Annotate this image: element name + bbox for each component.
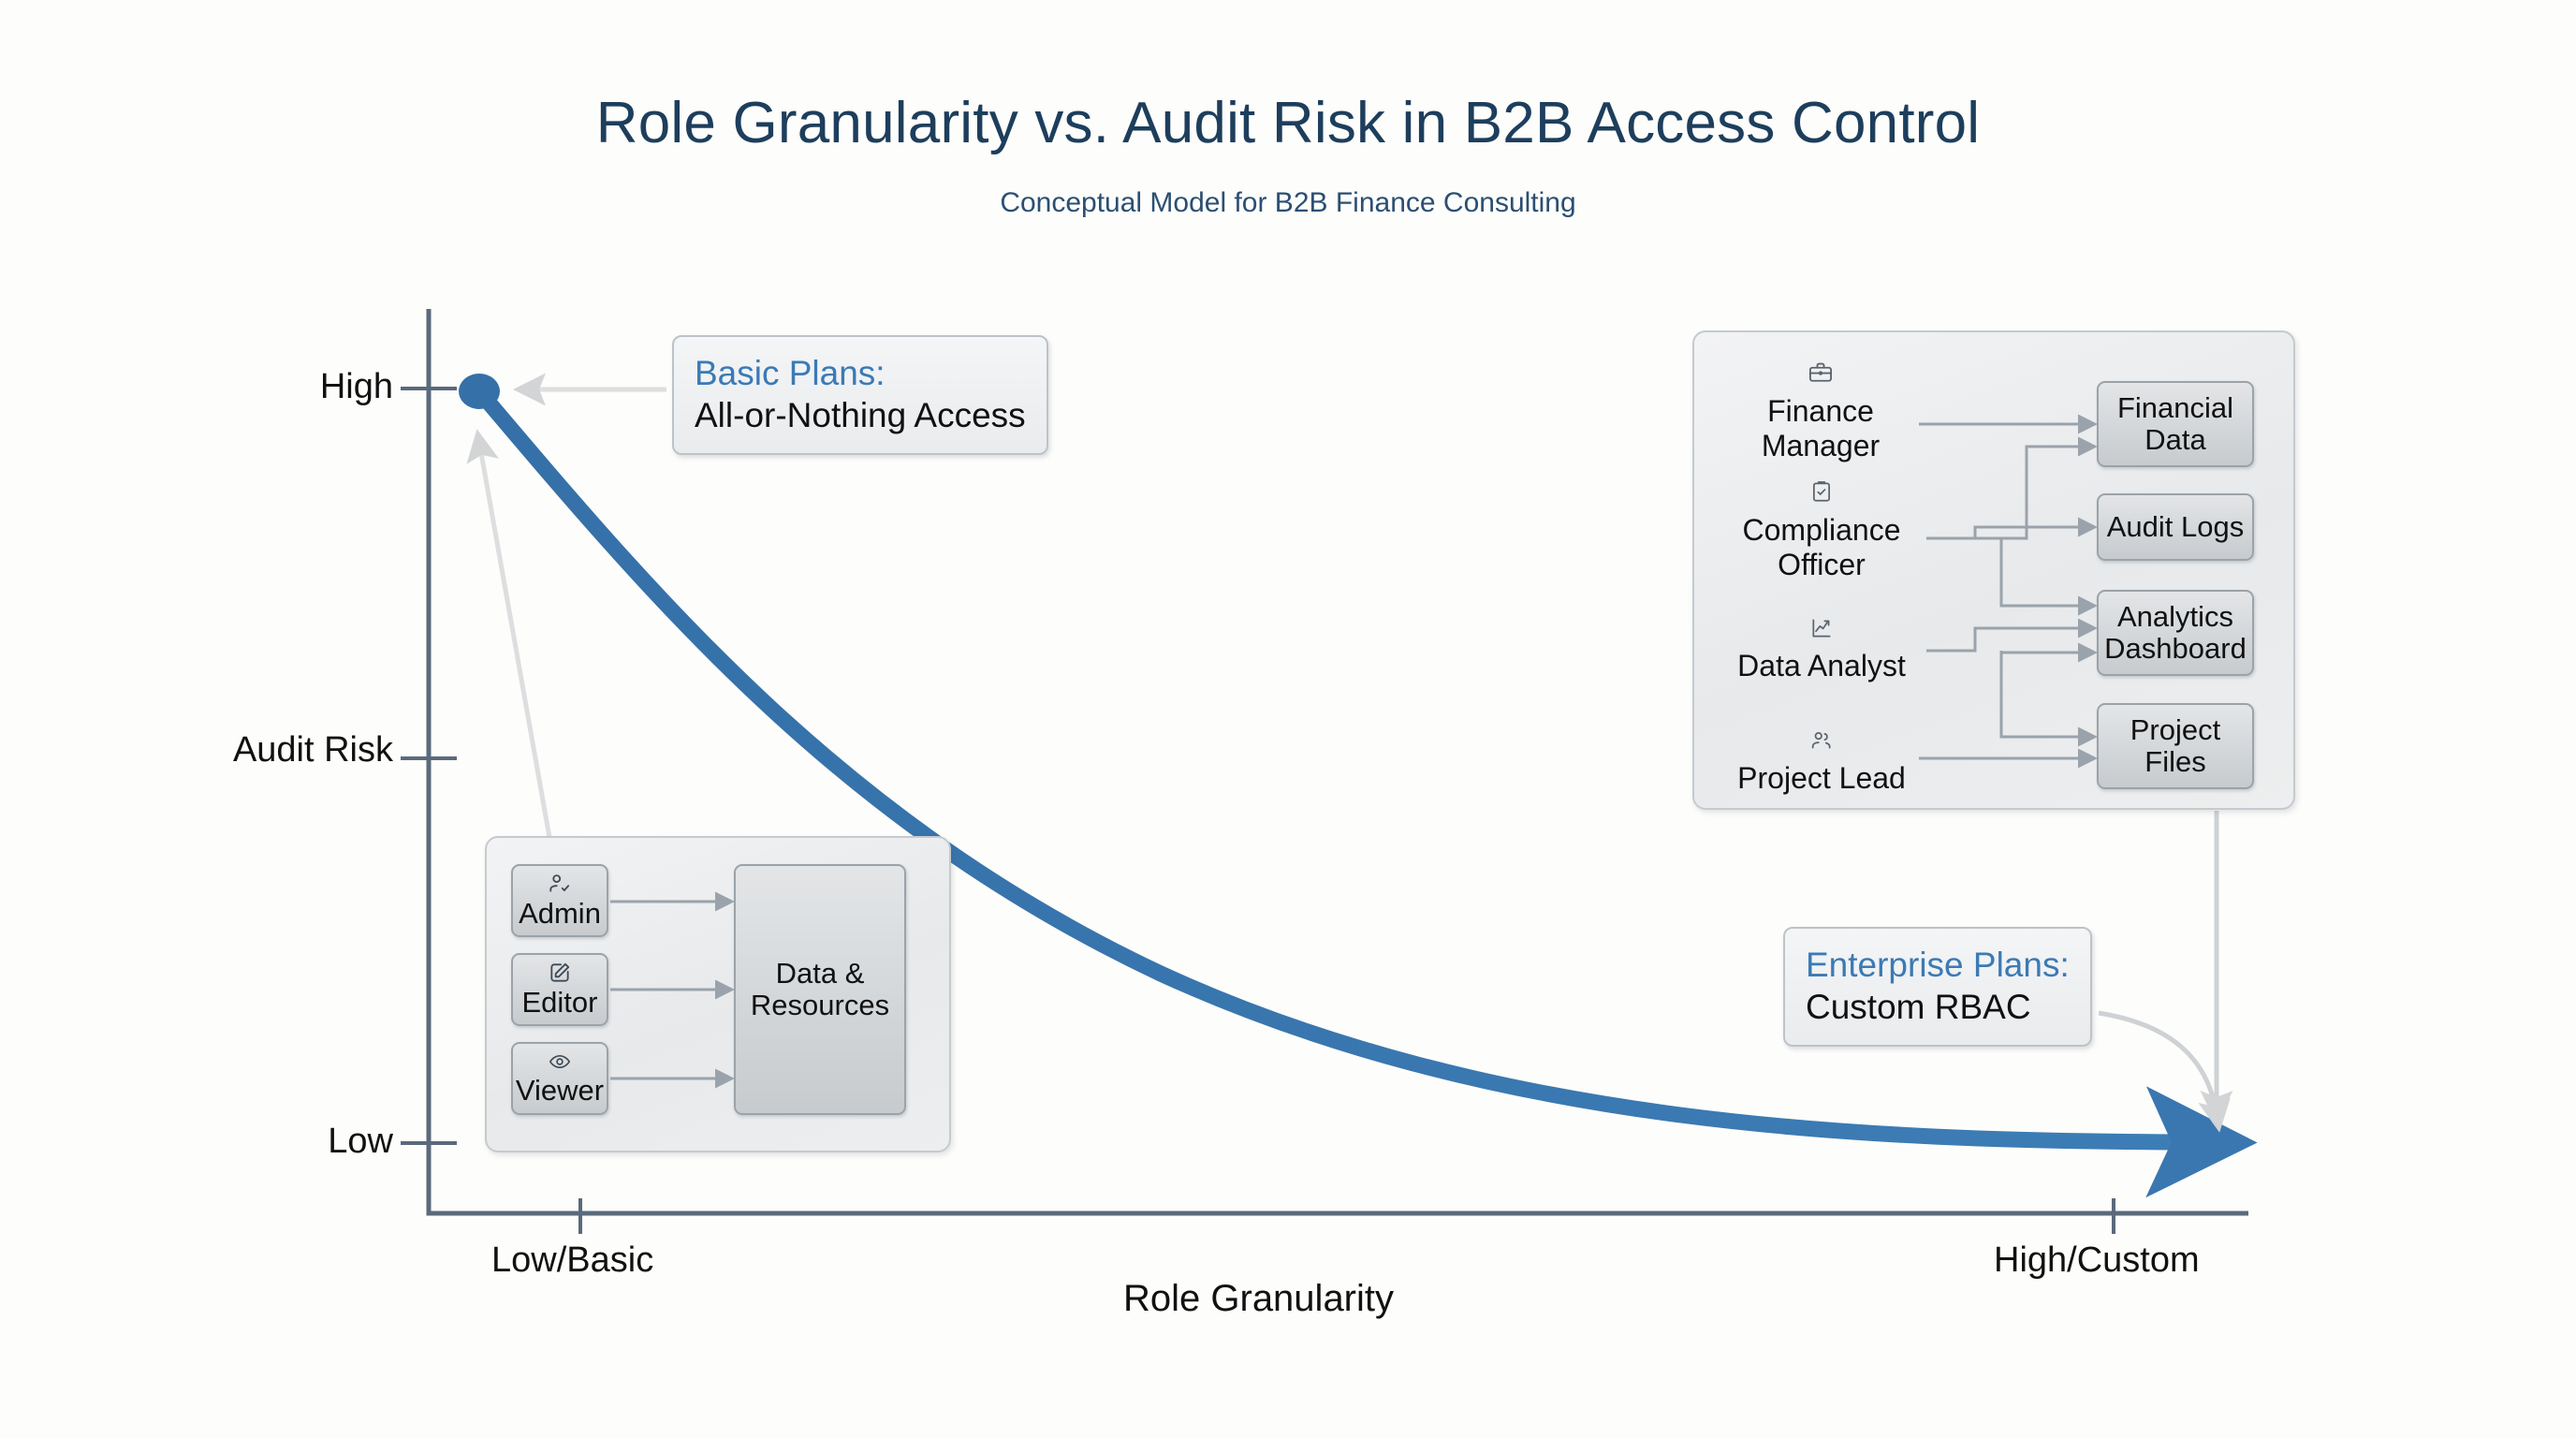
y-tick-low: Low: [328, 1122, 393, 1162]
callout-basic-heading: Basic Plans:: [695, 352, 1026, 394]
enterprise-diagram-connectors: [1694, 332, 2293, 808]
x-tick-low: Low/Basic: [491, 1240, 653, 1281]
y-axis-title: Audit Risk: [233, 730, 393, 770]
callout-basic-body: All-or-Nothing Access: [695, 394, 1026, 436]
y-tick-high: High: [320, 367, 393, 407]
basic-rbac-diagram: Admin Editor Viewer Data: [485, 836, 951, 1152]
callout-basic-plans: Basic Plans: All-or-Nothing Access: [672, 335, 1048, 455]
enterprise-rbac-diagram: Finance Manager Compliance Officer: [1692, 330, 2295, 810]
basic-diagram-connectors: [487, 838, 949, 1151]
x-tick-high: High/Custom: [1994, 1240, 2200, 1281]
callout-enterprise-body: Custom RBAC: [1806, 986, 2070, 1028]
callout-enterprise-plans: Enterprise Plans: Custom RBAC: [1783, 927, 2092, 1047]
diagram-canvas: Role Granularity vs. Audit Risk in B2B A…: [0, 0, 2576, 1438]
callout-enterprise-heading: Enterprise Plans:: [1806, 944, 2070, 986]
x-axis-title: Role Granularity: [1123, 1278, 1394, 1320]
